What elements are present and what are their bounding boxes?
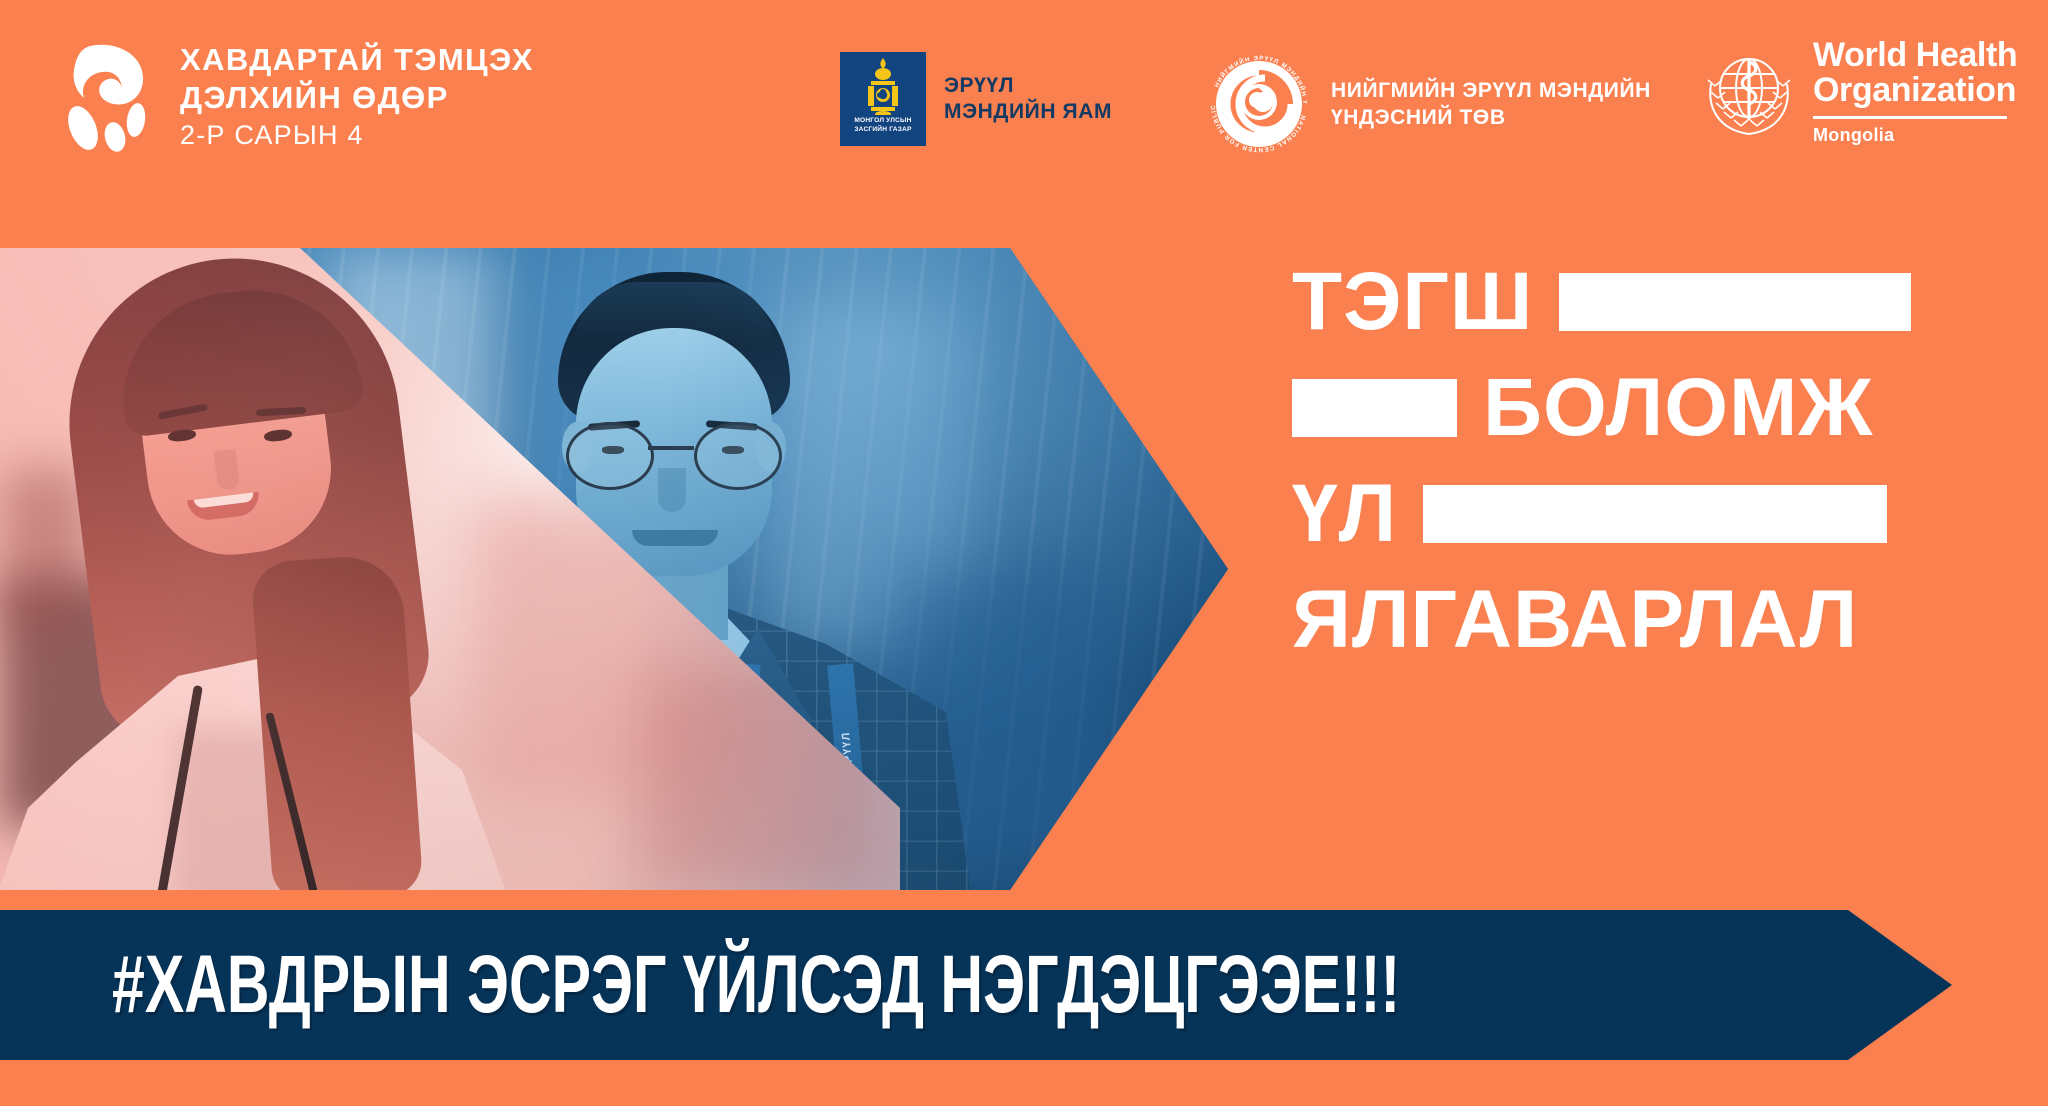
world-cancer-day-mark-icon <box>52 40 156 152</box>
slogan-line-2: БОЛОМЖ <box>1292 364 1992 452</box>
slogan-line-4: ЯЛГАВАРЛАЛ <box>1292 576 1992 664</box>
slogan-bar-1 <box>1559 273 1911 331</box>
man-nose <box>658 468 686 512</box>
poster-root: ХАВДАРТАЙ ТЭМЦЭХ ДЭЛХИЙН ӨДӨР 2-Р САРЫН … <box>0 0 2048 1106</box>
gov-caption-line-1: МОНГОЛ УЛСЫН <box>854 117 911 124</box>
who-line-2: Organization <box>1813 73 2017 108</box>
wcd-line-1: ХАВДАРТАЙ ТЭМЦЭХ <box>180 44 534 75</box>
soyombo-emblem-icon: МОНГОЛ УЛСЫН ЗАСГИЙН ГАЗАР <box>840 52 926 146</box>
glasses-lens-right <box>694 422 782 490</box>
who-text: World Health Organization Mongolia <box>1813 38 2017 144</box>
ncph-name: НИЙГМИЙН ЭРҮҮЛ МЭНДИЙН ҮНДЭСНИЙ ТӨВ <box>1331 77 1651 132</box>
who-line-1: World Health <box>1813 38 2017 73</box>
world-cancer-day-lockup: ХАВДАРТАЙ ТЭМЦЭХ ДЭЛХИЙН ӨДӨР 2-Р САРЫН … <box>52 40 534 152</box>
government-emblem-caption: МОНГОЛ УЛСЫН ЗАСГИЙН ГАЗАР <box>854 117 911 134</box>
ministry-line-2: МЭНДИЙН ЯАМ <box>944 99 1112 125</box>
ncph-line-1: НИЙГМИЙН ЭРҮҮЛ МЭНДИЙН <box>1331 77 1651 104</box>
gov-caption-line-2: ЗАСГИЙН ГАЗАР <box>854 126 911 133</box>
soyombo-symbol-icon <box>860 57 906 115</box>
slogan-bar-3 <box>1423 485 1887 543</box>
header-bar: ХАВДАРТАЙ ТЭМЦЭХ ДЭЛХИЙН ӨДӨР 2-Р САРЫН … <box>0 0 2048 248</box>
hashtag-text: #ХАВДРЫН ЭСРЭГ ҮЙЛСЭД НЭГДЭЦГЭЭЕ!!! <box>112 938 1400 1032</box>
world-cancer-day-text: ХАВДАРТАЙ ТЭМЦЭХ ДЭЛХИЙН ӨДӨР 2-Р САРЫН … <box>180 44 534 149</box>
woman-hair-long <box>250 553 423 890</box>
ncph-lockup: НИЙГМИЙН ЭРҮҮЛ МЭНДИЙН ҮНДЭСНИЙ ТӨВ NATI… <box>1205 50 1651 158</box>
slogan-bar-2 <box>1292 379 1457 437</box>
slogan-word-tegsh: ТЭГШ <box>1292 265 1533 339</box>
slogan-line-1: ТЭГШ <box>1292 258 1992 346</box>
slogan-word-yalgavarlal: ЯЛГАВАРЛАЛ <box>1292 583 1858 657</box>
man-mouth <box>632 530 718 546</box>
ministry-of-health-lockup: МОНГОЛ УЛСЫН ЗАСГИЙН ГАЗАР ЭРҮҮЛ МЭНДИЙН… <box>840 52 1112 146</box>
ncph-line-2: ҮНДЭСНИЙ ТӨВ <box>1331 104 1651 131</box>
hashtag-banner: #ХАВДРЫН ЭСРЭГ ҮЙЛСЭД НЭГДЭЦГЭЭЕ!!! <box>0 910 1952 1060</box>
slogan-line-3: ҮЛ <box>1292 470 1992 558</box>
who-divider <box>1813 116 2007 119</box>
ncph-spiral-mark-icon: НИЙГМИЙН ЭРҮҮЛ МЭНДИЙН ҮНДЭСНИЙ ТӨВ NATI… <box>1205 50 1313 158</box>
who-lockup: World Health Organization Mongolia <box>1703 38 2017 144</box>
glasses-bridge <box>648 446 694 450</box>
slogan-block: ТЭГШ БОЛОМЖ ҮЛ ЯЛГАВАРЛАЛ <box>1292 258 1992 664</box>
slogan-word-ul: ҮЛ <box>1292 477 1397 551</box>
ministry-line-1: ЭРҮҮЛ <box>944 73 1112 99</box>
wcd-date: 2-Р САРЫН 4 <box>180 122 534 149</box>
ministry-name: ЭРҮҮЛ МЭНДИЙН ЯАМ <box>944 73 1112 126</box>
who-country: Mongolia <box>1813 126 2017 144</box>
slogan-word-bolomj: БОЛОМЖ <box>1483 371 1873 445</box>
wcd-line-2: ДЭЛХИЙН ӨДӨР <box>180 82 534 113</box>
glasses-lens-left <box>566 422 654 490</box>
who-emblem-icon <box>1703 46 1795 142</box>
hero-photo-collage: МЭНДИЙН ҮНДЭСНИЙ ТӨВ НИЙГМИЙН ЭРҮҮЛ <box>0 248 1228 890</box>
